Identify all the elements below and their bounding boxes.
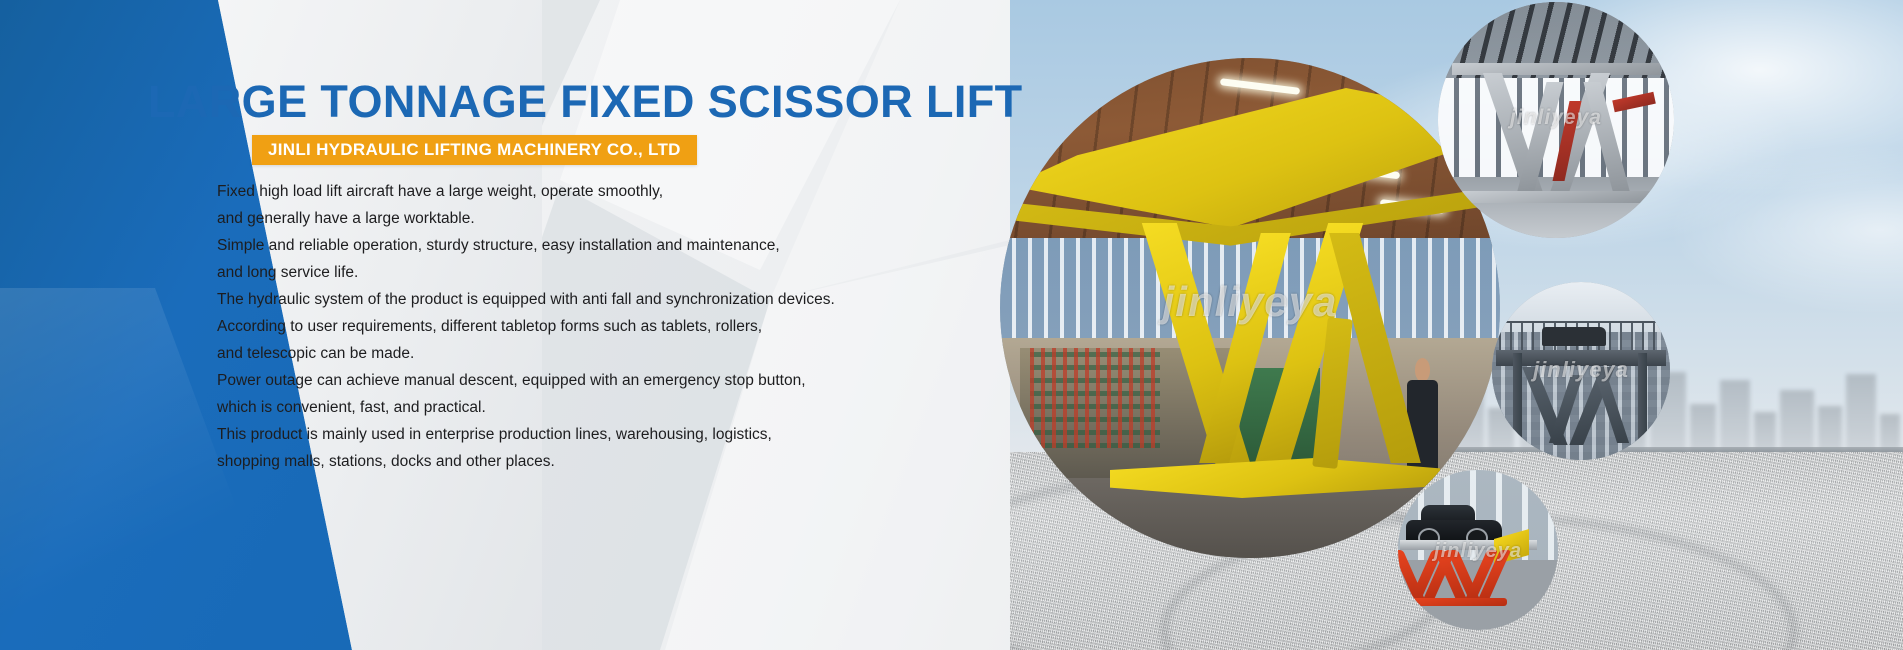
description-line: Simple and reliable operation, sturdy st… [217,232,917,259]
factory-scene [1438,2,1674,238]
product-photo-factory: jinliyeya [1438,2,1674,238]
description-line: Fixed high load lift aircraft have a lar… [217,178,917,205]
description-line: The hydraulic system of the product is e… [217,286,917,313]
description-line: This product is mainly used in enterpris… [217,421,917,448]
promotional-banner: LARGE TONNAGE FIXED SCISSOR LIFT JINLI H… [0,0,1903,650]
description-line: which is convenient, fast, and practical… [217,394,917,421]
company-name-label: JINLI HYDRAULIC LIFTING MACHINERY CO., L… [268,140,681,160]
car-on-lift [1406,505,1502,543]
description-line: and telescopic can be made. [217,340,917,367]
company-name-bar: JINLI HYDRAULIC LIFTING MACHINERY CO., L… [252,135,697,165]
description-block: Fixed high load lift aircraft have a lar… [217,178,917,475]
product-photo-outdoor: jinliyeya [1492,282,1670,460]
description-line: Power outage can achieve manual descent,… [217,367,917,394]
description-line: and generally have a large worktable. [217,205,917,232]
page-title: LARGE TONNAGE FIXED SCISSOR LIFT [148,76,1023,128]
description-line: According to user requirements, differen… [217,313,917,340]
product-photo-car-lift: jinliyeya [1398,470,1558,630]
car-lift-scene [1398,470,1558,630]
description-line: and long service life. [217,259,917,286]
outdoor-platform-scene [1492,282,1670,460]
description-line: shopping malls, stations, docks and othe… [217,448,917,475]
